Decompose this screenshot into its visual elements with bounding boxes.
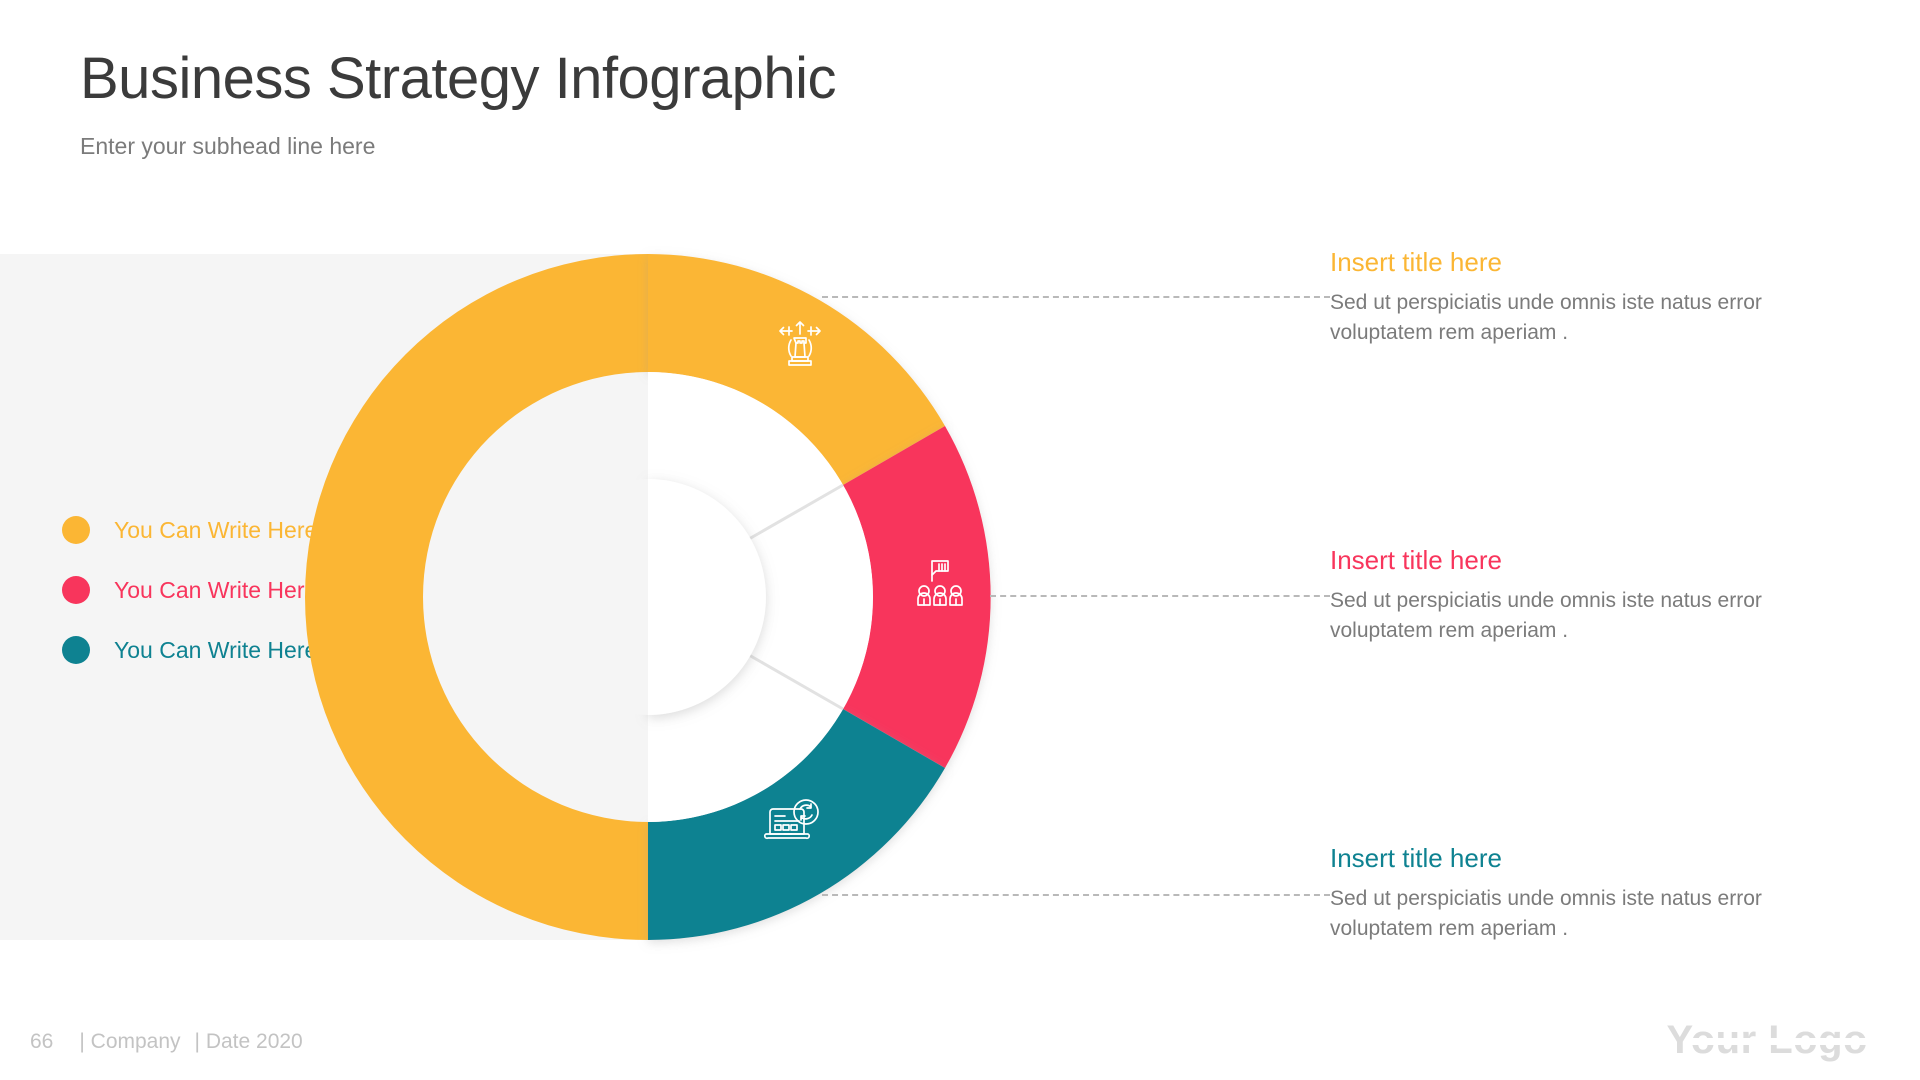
info-block-1: Insert title here Sed ut perspiciatis un… bbox=[1330, 247, 1890, 348]
info-body-1: Sed ut perspiciatis unde omnis iste natu… bbox=[1330, 288, 1850, 348]
info-body-3: Sed ut perspiciatis unde omnis iste natu… bbox=[1330, 884, 1850, 944]
legend-dot-pink-icon bbox=[62, 576, 90, 604]
info-body-2: Sed ut perspiciatis unde omnis iste natu… bbox=[1330, 586, 1850, 646]
legend-label-2: You Can Write Here bbox=[114, 577, 317, 604]
page-title: Business Strategy Infographic bbox=[80, 48, 1180, 111]
info-block-3: Insert title here Sed ut perspiciatis un… bbox=[1330, 843, 1890, 944]
legend-label-3: You Can Write Here bbox=[114, 637, 317, 664]
donut-chart-svg bbox=[300, 248, 1000, 948]
footer-date: | Date 2020 bbox=[195, 1030, 303, 1054]
page-subtitle: Enter your subhead line here bbox=[80, 111, 1180, 160]
footer-company: | Company bbox=[79, 1030, 180, 1054]
footer: 66 | Company | Date 2020 bbox=[30, 1030, 303, 1054]
legend-label-1: You Can Write Here bbox=[114, 517, 317, 544]
logo-strike-decoration bbox=[1692, 1038, 1868, 1045]
connector-line-2 bbox=[990, 595, 1330, 597]
info-block-2: Insert title here Sed ut perspiciatis un… bbox=[1330, 545, 1890, 646]
connector-line-1 bbox=[822, 296, 1330, 298]
info-title-3: Insert title here bbox=[1330, 843, 1890, 874]
page-header: Business Strategy Infographic Enter your… bbox=[80, 48, 1180, 160]
connector-line-3 bbox=[822, 894, 1330, 896]
info-title-2: Insert title here bbox=[1330, 545, 1890, 576]
donut-chart bbox=[300, 248, 1000, 948]
legend-dot-teal-icon bbox=[62, 636, 90, 664]
legend-dot-amber-icon bbox=[62, 516, 90, 544]
info-title-1: Insert title here bbox=[1330, 247, 1890, 278]
footer-page-number: 66 bbox=[30, 1030, 53, 1054]
inner-hub-disc-left bbox=[530, 479, 648, 715]
